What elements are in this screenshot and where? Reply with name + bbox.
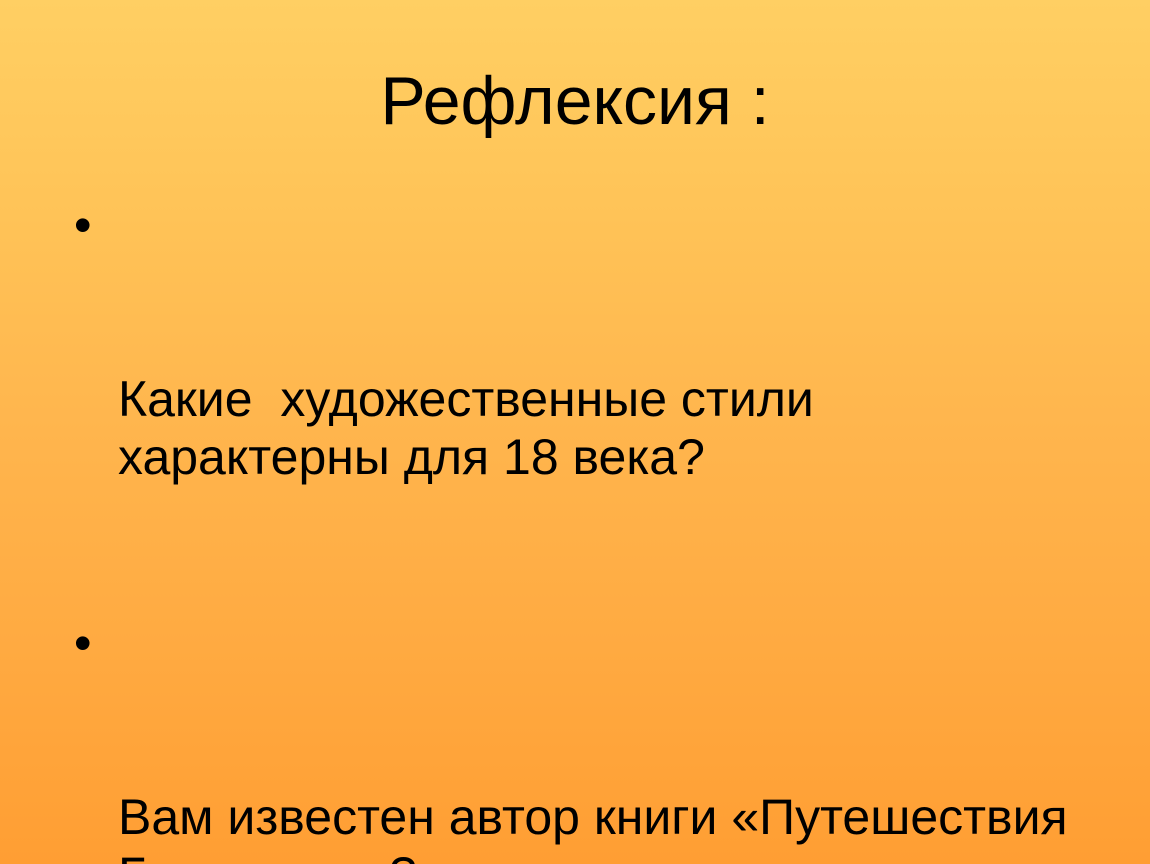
- reflection-question-list: • Какие художественные стили характерны …: [60, 196, 1070, 864]
- list-item: • Вам известен автор книги «Путешествия …: [60, 614, 1070, 864]
- list-item-text: Вам известен автор книги «Путешествия Гу…: [118, 788, 1070, 864]
- list-item-text: Какие художественные стили характерны дл…: [118, 370, 1070, 486]
- page-title: Рефлексия :: [0, 60, 1150, 142]
- presentation-slide: Рефлексия : • Какие художественные стили…: [0, 0, 1150, 864]
- bullet-dot-icon: •: [74, 196, 92, 254]
- list-item: • Какие художественные стили характерны …: [60, 196, 1070, 602]
- bullet-dot-icon: •: [74, 614, 92, 672]
